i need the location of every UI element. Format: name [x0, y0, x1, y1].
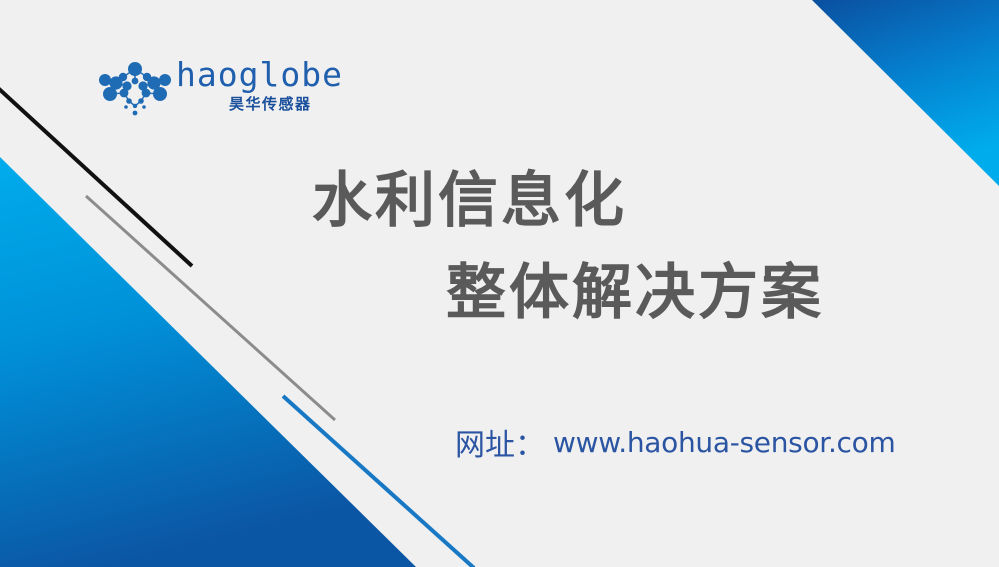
- logo-chinese-subtext: 昊华传感器: [229, 94, 312, 114]
- presentation-title-slide: haoglobe 昊华传感器 水利信息化 整体解决方案 网址： www.haoh…: [0, 0, 999, 567]
- website-url-row: 网址： www.haohua-sensor.com: [455, 420, 895, 464]
- logo-wordmark: haoglobe: [176, 55, 343, 95]
- slide-title-line-1: 水利信息化: [312, 163, 627, 239]
- website-url-label: 网址：: [455, 428, 545, 463]
- website-url-value[interactable]: www.haohua-sensor.com: [545, 426, 895, 459]
- company-logo[interactable]: haoglobe 昊华传感器: [96, 55, 326, 125]
- haoglobe-node-cluster-icon: [96, 61, 174, 116]
- slide-title-line-2: 整体解决方案: [446, 255, 824, 331]
